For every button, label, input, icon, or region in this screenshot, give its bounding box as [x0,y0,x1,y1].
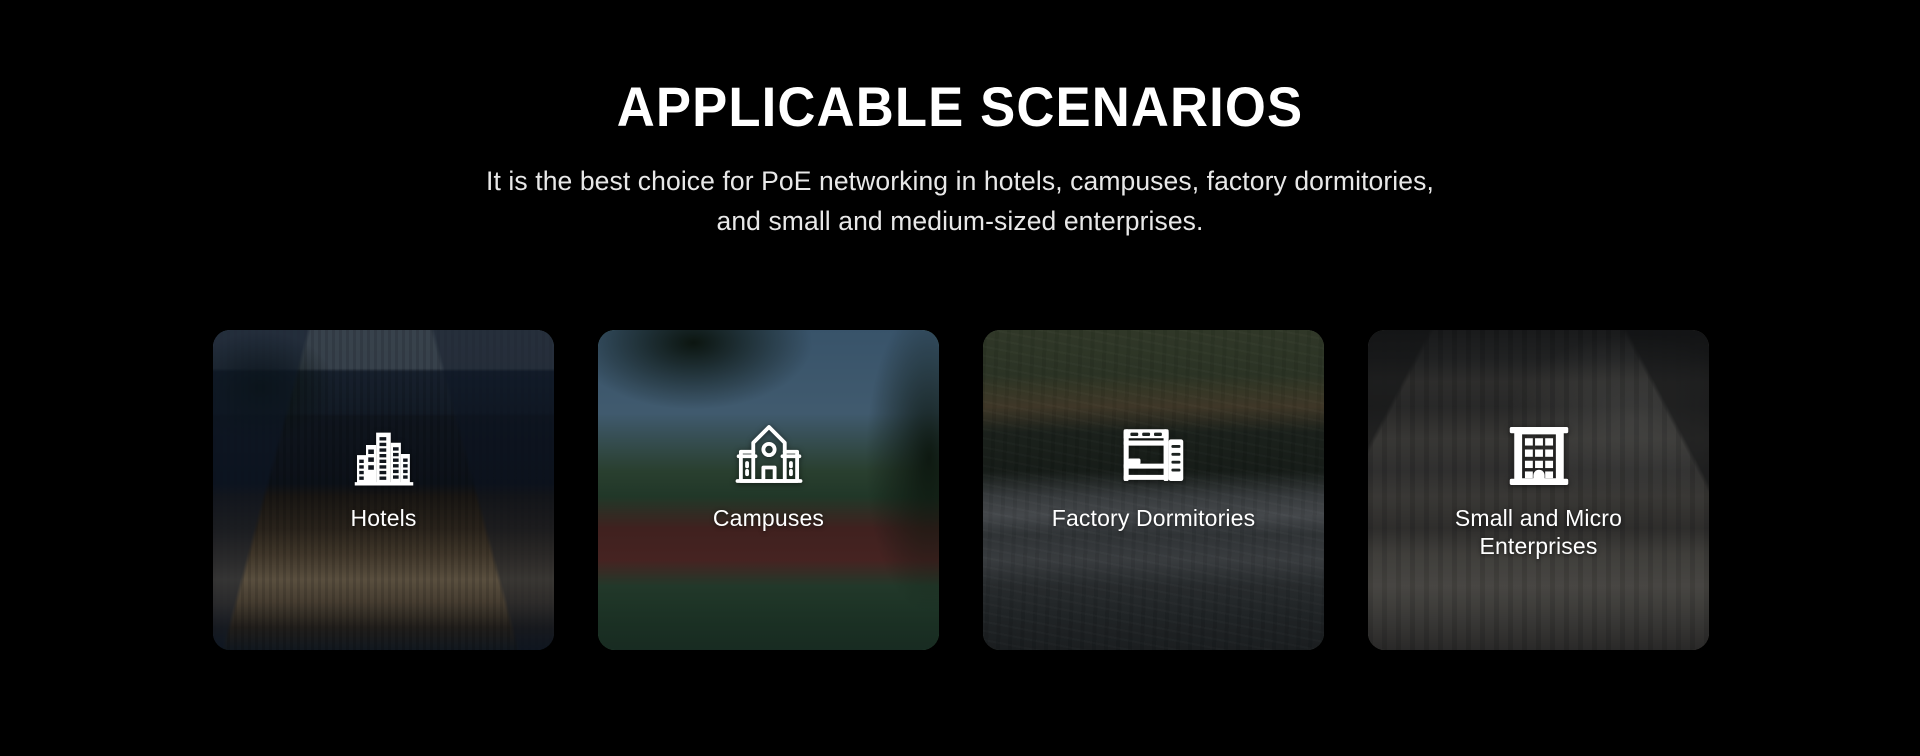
scenario-card-hotels[interactable]: Hotels [213,330,554,650]
school-building-icon [733,418,805,490]
scenario-card-campuses[interactable]: Campuses [598,330,939,650]
scenario-card-factory-dormitories[interactable]: Factory Dormitories [983,330,1324,650]
section-header: APPLICABLE SCENARIOS It is the best choi… [0,0,1920,241]
card-label: Hotels [350,504,416,532]
card-content: Factory Dormitories [983,330,1324,650]
card-label: Campuses [713,504,824,532]
section-subtitle: It is the best choice for PoE networking… [470,161,1450,242]
applicable-scenarios-section: APPLICABLE SCENARIOS It is the best choi… [0,0,1920,756]
card-content: Small and Micro Enterprises [1368,330,1709,650]
skyscrapers-icon [348,418,420,490]
office-building-icon [1503,418,1575,490]
card-content: Campuses [598,330,939,650]
card-content: Hotels [213,330,554,650]
bunk-bed-icon [1118,418,1190,490]
page-title: APPLICABLE SCENARIOS [58,78,1863,137]
card-label: Small and Micro Enterprises [1455,504,1622,560]
scenario-cards-row: Hotels [213,330,1710,650]
scenario-card-small-micro-enterprises[interactable]: Small and Micro Enterprises [1368,330,1709,650]
card-label: Factory Dormitories [1052,504,1256,532]
